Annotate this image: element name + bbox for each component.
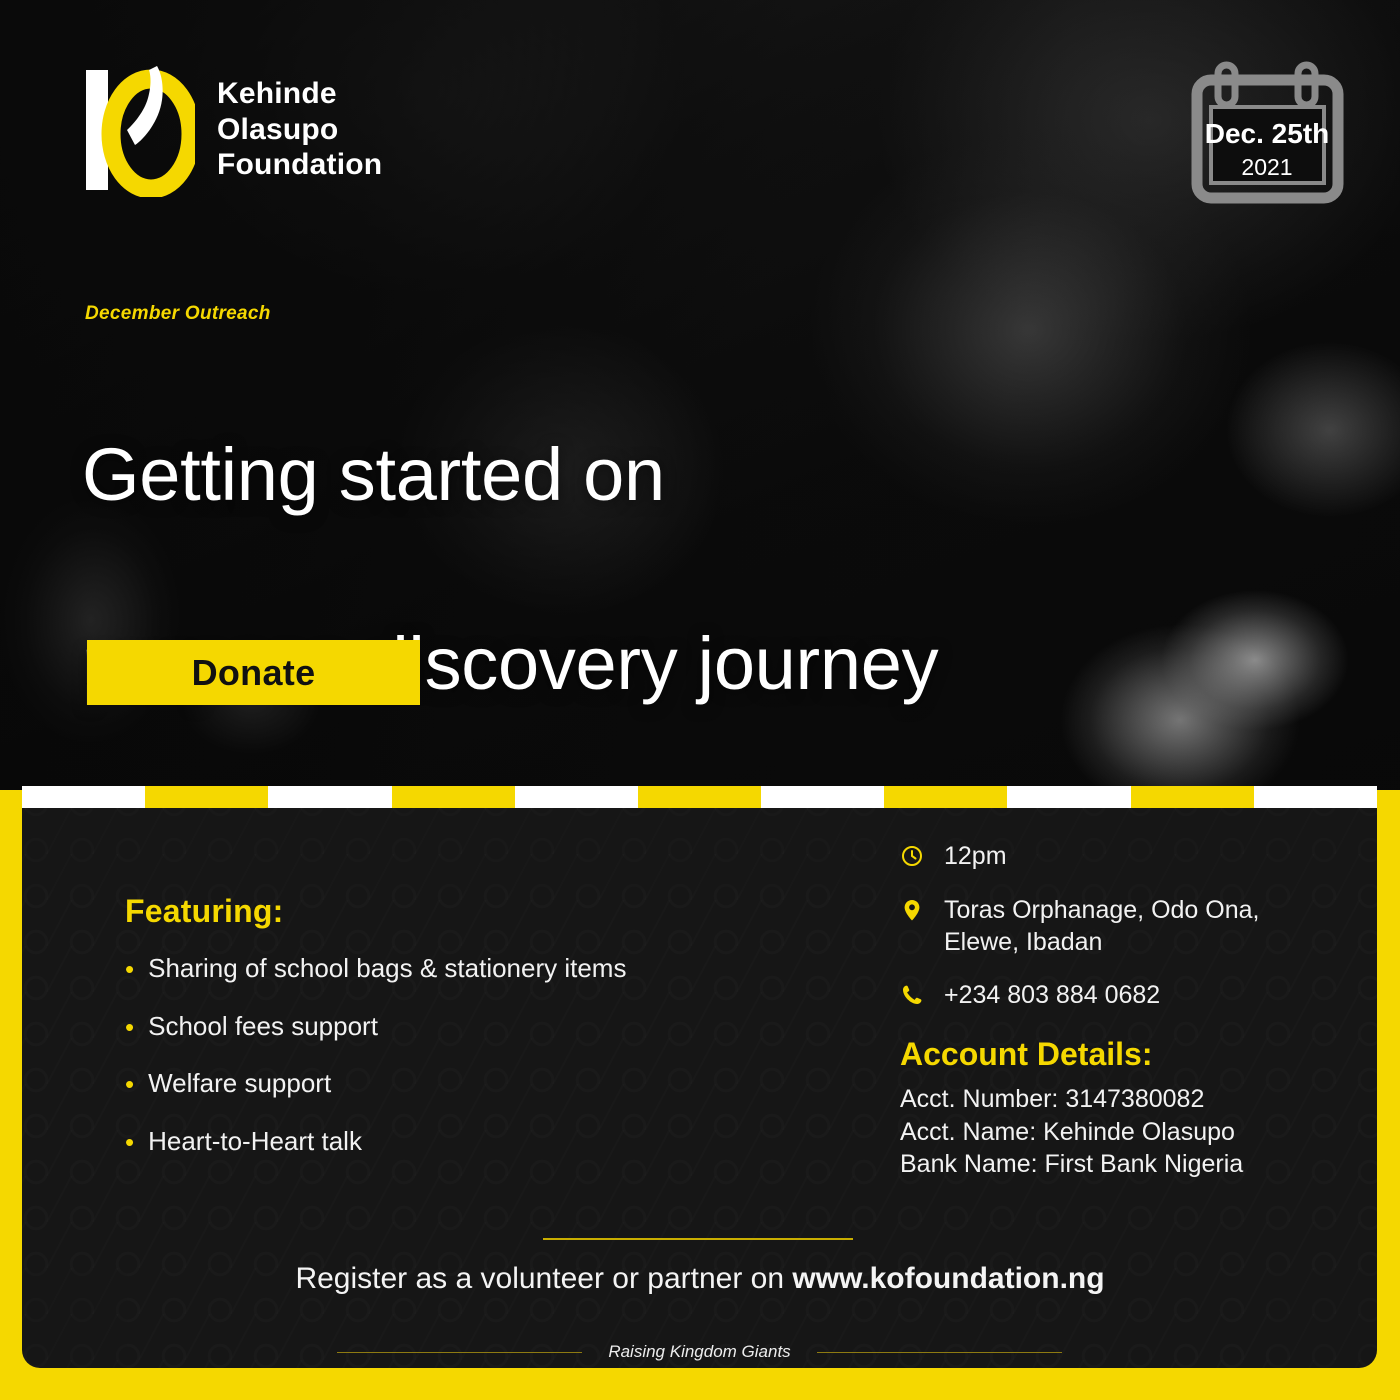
account-details-block: Account Details: Acct. Number: 314738008… bbox=[900, 1036, 1340, 1181]
brand-name-line-1: Kehinde bbox=[217, 76, 382, 111]
list-item: • School fees support bbox=[125, 1010, 765, 1043]
phone-icon bbox=[900, 980, 924, 1012]
list-item: • Sharing of school bags & stationery it… bbox=[125, 952, 765, 985]
featuring-title: Featuring: bbox=[125, 893, 765, 930]
stripe-segment bbox=[884, 786, 1007, 808]
event-phone: +234 803 884 0682 bbox=[944, 980, 1160, 1012]
register-divider bbox=[543, 1238, 853, 1240]
stripe-segment bbox=[761, 786, 884, 808]
stripe-segment bbox=[145, 786, 268, 808]
badge-date-text: Dec. 25th bbox=[1205, 118, 1330, 149]
stripe-segment bbox=[22, 786, 145, 808]
register-cta: Register as a volunteer or partner on ww… bbox=[0, 1262, 1400, 1296]
calendar-icon: Dec. 25th 2021 bbox=[1190, 55, 1345, 207]
stripe-divider bbox=[22, 786, 1377, 808]
footer-tagline: Raising Kingdom Giants bbox=[608, 1342, 790, 1362]
location-pin-icon bbox=[900, 895, 924, 927]
featuring-item-label: Welfare support bbox=[148, 1067, 331, 1100]
clock-icon bbox=[900, 841, 924, 873]
event-info-block: 12pm Toras Orphanage, Odo Ona, Elewe, Ib… bbox=[900, 841, 1320, 1034]
featuring-item-label: School fees support bbox=[148, 1010, 378, 1043]
account-name: Acct. Name: Kehinde Olasupo bbox=[900, 1116, 1340, 1149]
featuring-item-label: Sharing of school bags & stationery item… bbox=[148, 952, 626, 985]
donate-button[interactable]: Donate bbox=[87, 640, 420, 705]
stripe-segment bbox=[268, 786, 391, 808]
brand-name-line-3: Foundation bbox=[217, 147, 382, 182]
featuring-block: Featuring: • Sharing of school bags & st… bbox=[125, 893, 765, 1182]
brand-name-line-2: Olasupo bbox=[217, 112, 382, 147]
bullet-icon: • bbox=[125, 1071, 134, 1097]
brand-name: Kehinde Olasupo Foundation bbox=[217, 76, 382, 182]
badge-year-text: 2021 bbox=[1241, 154, 1292, 180]
brand-logo[interactable]: Kehinde Olasupo Foundation bbox=[83, 62, 382, 197]
info-row-location: Toras Orphanage, Odo Ona, Elewe, Ibadan bbox=[900, 895, 1320, 958]
bullet-icon: • bbox=[125, 1014, 134, 1040]
stripe-segment bbox=[515, 786, 638, 808]
bullet-icon: • bbox=[125, 1129, 134, 1155]
date-badge: Dec. 25th 2021 bbox=[1190, 55, 1345, 207]
eyebrow-label: December Outreach bbox=[85, 303, 271, 325]
stripe-segment bbox=[638, 786, 761, 808]
ko-monogram-icon bbox=[83, 62, 195, 197]
stripe-segment bbox=[1131, 786, 1254, 808]
stripe-segment bbox=[392, 786, 515, 808]
bullet-icon: • bbox=[125, 956, 134, 982]
featuring-item-label: Heart-to-Heart talk bbox=[148, 1125, 362, 1158]
account-number: Acct. Number: 3147380082 bbox=[900, 1083, 1340, 1116]
footer-rule-right bbox=[817, 1352, 1062, 1353]
bank-name: Bank Name: First Bank Nigeria bbox=[900, 1148, 1340, 1181]
event-location: Toras Orphanage, Odo Ona, Elewe, Ibadan bbox=[944, 895, 1320, 958]
page-title: Getting started on purpose discovery jou… bbox=[82, 333, 938, 790]
stripe-segment bbox=[1254, 786, 1377, 808]
register-website[interactable]: www.kofoundation.ng bbox=[792, 1262, 1104, 1295]
list-item: • Welfare support bbox=[125, 1067, 765, 1100]
headline-line-1: Getting started on bbox=[82, 428, 938, 523]
hero-section: Kehinde Olasupo Foundation Dec. 25th 202… bbox=[0, 0, 1400, 790]
info-row-time: 12pm bbox=[900, 841, 1320, 873]
footer-tagline-block: Raising Kingdom Giants bbox=[22, 1342, 1377, 1362]
list-item: • Heart-to-Heart talk bbox=[125, 1125, 765, 1158]
footer-rule-left bbox=[337, 1352, 582, 1353]
stripe-segment bbox=[1007, 786, 1130, 808]
account-details-title: Account Details: bbox=[900, 1036, 1340, 1073]
register-prefix: Register as a volunteer or partner on bbox=[295, 1262, 792, 1295]
info-row-phone: +234 803 884 0682 bbox=[900, 980, 1320, 1012]
event-time: 12pm bbox=[944, 841, 1007, 873]
